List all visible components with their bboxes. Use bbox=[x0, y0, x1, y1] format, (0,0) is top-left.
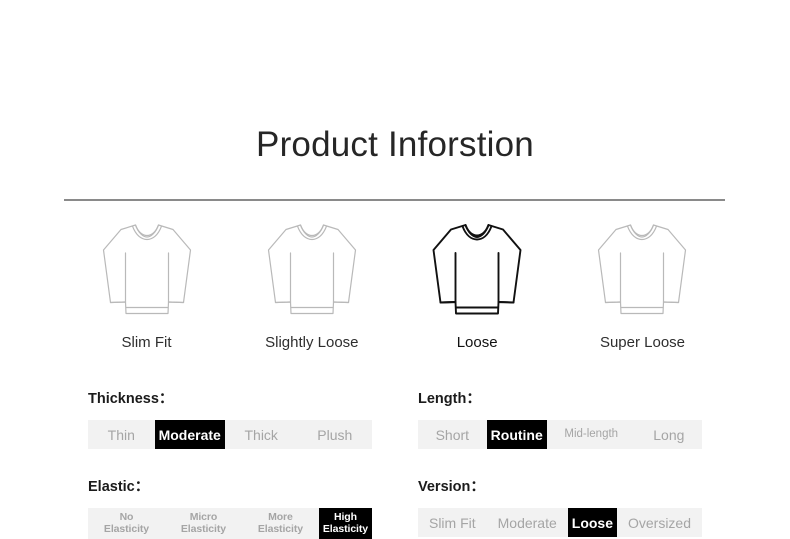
option-label: Routine bbox=[491, 427, 543, 443]
attribute-group-elastic: Elastic： NoElasticityMicroElasticityMore… bbox=[88, 478, 372, 539]
option-label-line1: No bbox=[120, 512, 134, 524]
option-thickness-moderate[interactable]: Moderate bbox=[155, 420, 225, 449]
option-label: Mid-length bbox=[564, 428, 618, 441]
option-thickness-thin[interactable]: Thin bbox=[88, 420, 155, 449]
option-label-line1: More bbox=[268, 512, 293, 524]
option-length-long[interactable]: Long bbox=[636, 420, 702, 449]
attribute-group-length: Length： ShortRoutineMid-lengthLong bbox=[418, 390, 702, 449]
option-label-line2: Elasticity bbox=[258, 524, 303, 536]
option-length-short[interactable]: Short bbox=[418, 420, 487, 449]
fit-option-slim-fit[interactable]: Slim Fit bbox=[64, 216, 229, 352]
attribute-group-version: Version： Slim FitModerateLooseOversized bbox=[418, 478, 702, 539]
thickness-label: Thickness： bbox=[88, 390, 372, 409]
option-label: Short bbox=[436, 427, 469, 443]
fit-illustrations-row: Slim FitSlightly LooseLooseSuper Loose bbox=[64, 216, 725, 352]
option-elastic-no-elasticity[interactable]: NoElasticity bbox=[88, 508, 165, 539]
sweatshirt-icon bbox=[592, 216, 692, 322]
option-elastic-more-elasticity[interactable]: MoreElasticity bbox=[242, 508, 319, 539]
option-label: Oversized bbox=[628, 515, 691, 531]
thickness-options[interactable]: ThinModerateThickPlush bbox=[88, 420, 372, 449]
option-thickness-thick[interactable]: Thick bbox=[225, 420, 298, 449]
length-options[interactable]: ShortRoutineMid-lengthLong bbox=[418, 420, 702, 449]
option-version-slim-fit[interactable]: Slim Fit bbox=[418, 508, 487, 537]
fit-option-label: Slightly Loose bbox=[265, 333, 358, 352]
option-label: Long bbox=[653, 427, 684, 443]
header-divider bbox=[64, 199, 725, 201]
fit-option-label: Loose bbox=[457, 333, 498, 352]
option-label: Moderate bbox=[159, 427, 221, 443]
option-label-line1: Micro bbox=[190, 512, 218, 524]
sweatshirt-icon bbox=[427, 216, 527, 322]
option-elastic-micro-elasticity[interactable]: MicroElasticity bbox=[165, 508, 242, 539]
fit-option-slightly-loose[interactable]: Slightly Loose bbox=[229, 216, 394, 352]
page-title: Product Inforstion bbox=[0, 122, 790, 168]
sweatshirt-icon bbox=[262, 216, 362, 322]
elastic-options[interactable]: NoElasticityMicroElasticityMoreElasticit… bbox=[88, 508, 372, 539]
option-version-oversized[interactable]: Oversized bbox=[617, 508, 702, 537]
fit-option-label: Slim Fit bbox=[122, 333, 172, 352]
sweatshirt-icon bbox=[97, 216, 197, 322]
option-thickness-plush[interactable]: Plush bbox=[298, 420, 372, 449]
option-label-line2: Elasticity bbox=[104, 524, 149, 536]
elastic-label: Elastic： bbox=[88, 478, 372, 497]
length-label: Length： bbox=[418, 390, 702, 409]
version-label: Version： bbox=[418, 478, 702, 497]
option-version-moderate[interactable]: Moderate bbox=[487, 508, 568, 537]
option-version-loose[interactable]: Loose bbox=[568, 508, 617, 537]
fit-option-loose[interactable]: Loose bbox=[395, 216, 560, 352]
version-options[interactable]: Slim FitModerateLooseOversized bbox=[418, 508, 702, 537]
option-length-routine[interactable]: Routine bbox=[487, 420, 547, 449]
option-label-line1: High bbox=[334, 512, 357, 524]
option-elastic-high-elasticity[interactable]: HighElasticity bbox=[319, 508, 372, 539]
option-label: Thin bbox=[108, 427, 135, 443]
option-label: Loose bbox=[572, 515, 613, 531]
fit-option-super-loose[interactable]: Super Loose bbox=[560, 216, 725, 352]
option-label-line2: Elasticity bbox=[323, 524, 368, 536]
option-label: Slim Fit bbox=[429, 515, 476, 531]
attribute-group-thickness: Thickness： ThinModerateThickPlush bbox=[88, 390, 372, 449]
option-label: Thick bbox=[244, 427, 277, 443]
attribute-selectors: Thickness： ThinModerateThickPlush Length… bbox=[88, 390, 702, 539]
fit-option-label: Super Loose bbox=[600, 333, 685, 352]
option-length-mid-length[interactable]: Mid-length bbox=[547, 420, 636, 449]
option-label-line2: Elasticity bbox=[181, 524, 226, 536]
option-label: Plush bbox=[317, 427, 352, 443]
option-label: Moderate bbox=[498, 515, 557, 531]
